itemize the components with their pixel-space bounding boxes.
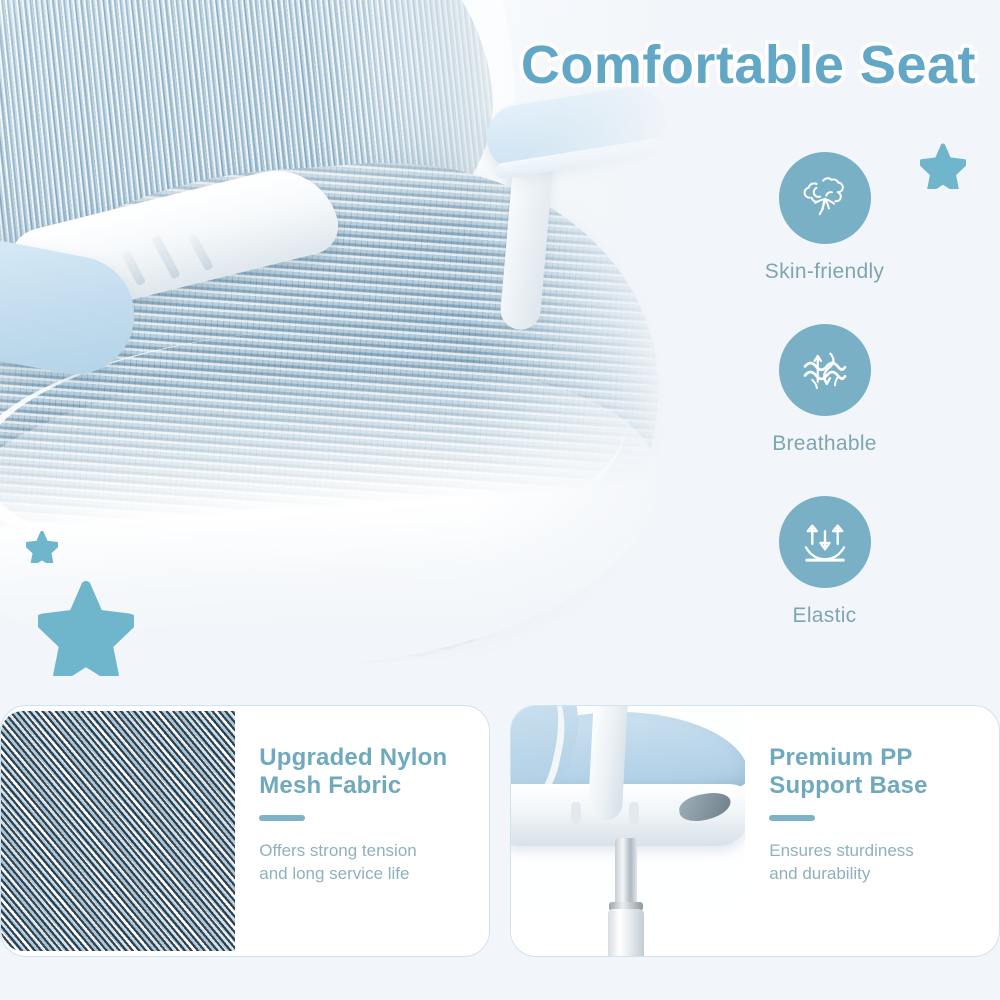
card-title: Upgraded Nylon Mesh Fabric	[259, 744, 469, 801]
feature-list: Skin-friendly Breathable	[712, 152, 937, 628]
card-description: Offers strong tension and long service l…	[259, 839, 469, 887]
card-divider	[259, 815, 305, 821]
base-photo-background	[511, 706, 745, 956]
chair-support-base-photo	[511, 706, 745, 956]
page-title: Comfortable Seat	[521, 34, 976, 96]
base-notch	[629, 802, 639, 824]
gas-cylinder-housing	[608, 909, 644, 956]
card-text: Upgraded Nylon Mesh Fabric Offers strong…	[235, 706, 489, 956]
mesh-texture	[1, 711, 235, 951]
feature-card-support-base: Premium PP Support Base Ensures sturdine…	[510, 705, 1000, 957]
feature-card-row: Upgraded Nylon Mesh Fabric Offers strong…	[0, 705, 1000, 957]
card-divider	[769, 815, 815, 821]
star-icon-bottom-left-small	[26, 531, 58, 563]
feature-label: Skin-friendly	[712, 260, 937, 284]
elastic-arrows-icon	[779, 496, 871, 588]
cotton-boll-icon	[779, 152, 871, 244]
gas-cylinder-shaft	[615, 838, 637, 906]
connector-rib	[188, 234, 214, 272]
feature-item-breathable: Breathable	[712, 324, 937, 456]
feature-label: Breathable	[712, 432, 937, 456]
card-description: Ensures sturdiness and durability	[769, 839, 979, 887]
mesh-fabric-macro-photo	[1, 706, 235, 956]
card-text: Premium PP Support Base Ensures sturdine…	[745, 706, 999, 956]
feature-item-skin-friendly: Skin-friendly	[712, 152, 937, 284]
marketing-banner: Comfortable Seat Skin-fr	[0, 0, 1000, 1000]
connector-rib	[151, 235, 181, 280]
feature-label: Elastic	[712, 604, 937, 628]
star-icon-bottom-left-large	[38, 580, 134, 676]
feature-card-mesh-fabric: Upgraded Nylon Mesh Fabric Offers strong…	[0, 705, 490, 957]
base-spine	[588, 706, 629, 821]
connector-rib	[121, 250, 146, 286]
base-notch	[571, 802, 581, 824]
card-title: Premium PP Support Base	[769, 744, 979, 801]
airflow-mesh-icon	[779, 324, 871, 416]
feature-item-elastic: Elastic	[712, 496, 937, 628]
